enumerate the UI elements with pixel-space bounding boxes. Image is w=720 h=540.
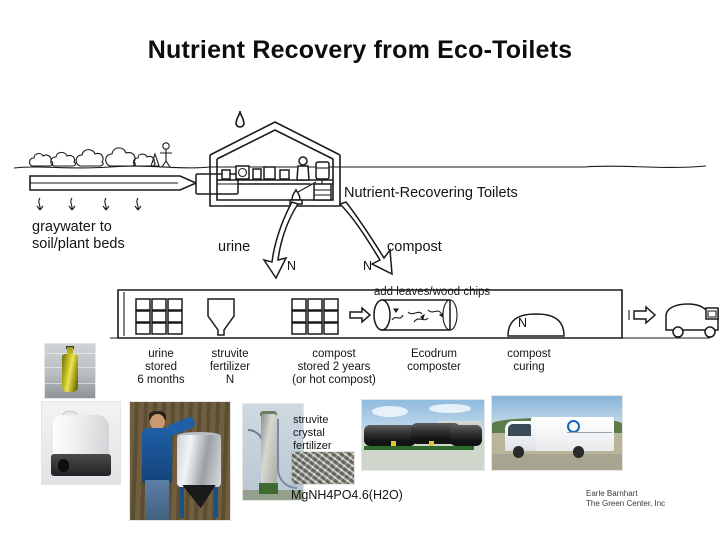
ecodrum-note: add leaves/wood chips <box>372 286 492 299</box>
urine-nitrogen-marker: N <box>287 259 296 273</box>
compost-crate-stack-icon <box>292 299 338 334</box>
stage-caption-ecodrum: Ecodrum composter <box>389 348 479 374</box>
compost-nitrogen-marker: N <box>363 259 372 273</box>
struvite-funnel-icon <box>208 299 234 335</box>
stage-caption-struvite: struvite fertilizer N <box>190 348 270 387</box>
stage-caption-urine-storage: urine stored 6 months <box>121 348 201 387</box>
urine-crate-stack-icon <box>136 299 182 334</box>
stage-caption-compost-curing: compost curing <box>489 348 569 374</box>
stage-caption-compost-storage: compost stored 2 years (or hot compost) <box>278 348 390 387</box>
struvite-crystal-photo <box>292 452 354 484</box>
urine-tank-photo <box>42 402 120 484</box>
slide-canvas: Nutrient Recovery from Eco-Toilets <box>0 0 720 540</box>
struvite-formula: MgNH4PO4.6(H2O) <box>291 488 403 502</box>
urine-bottle-photo <box>45 344 95 398</box>
credit-organization: The Green Center, Inc <box>586 499 665 509</box>
water-drop-icon <box>236 111 244 127</box>
struvite-reactor-photo <box>130 402 230 520</box>
electric-truck-photo <box>492 396 622 470</box>
arrow-to-truck-icon <box>634 307 655 323</box>
ecodrum-icon <box>374 300 457 330</box>
compost-flow-label: compost <box>387 239 442 256</box>
compost-mound-icon <box>508 314 564 336</box>
plant-bed-icon <box>30 143 172 167</box>
graywater-label: graywater to soil/plant beds <box>32 219 125 253</box>
struvite-crystal-caption: struvite crystal fertilizer <box>293 414 357 453</box>
truck-icon <box>666 304 718 337</box>
arrow-to-ecodrum-icon <box>350 308 370 322</box>
ecodrum-photo <box>362 400 484 470</box>
infiltration-arrows-icon <box>37 198 141 210</box>
person-icon <box>297 157 309 180</box>
urine-flow-label: urine <box>218 239 250 256</box>
curing-nitrogen-marker: N <box>518 316 527 330</box>
page-title: Nutrient Recovery from Eco-Toilets <box>0 36 720 65</box>
credit-author: Earle Barnhart <box>586 489 638 499</box>
